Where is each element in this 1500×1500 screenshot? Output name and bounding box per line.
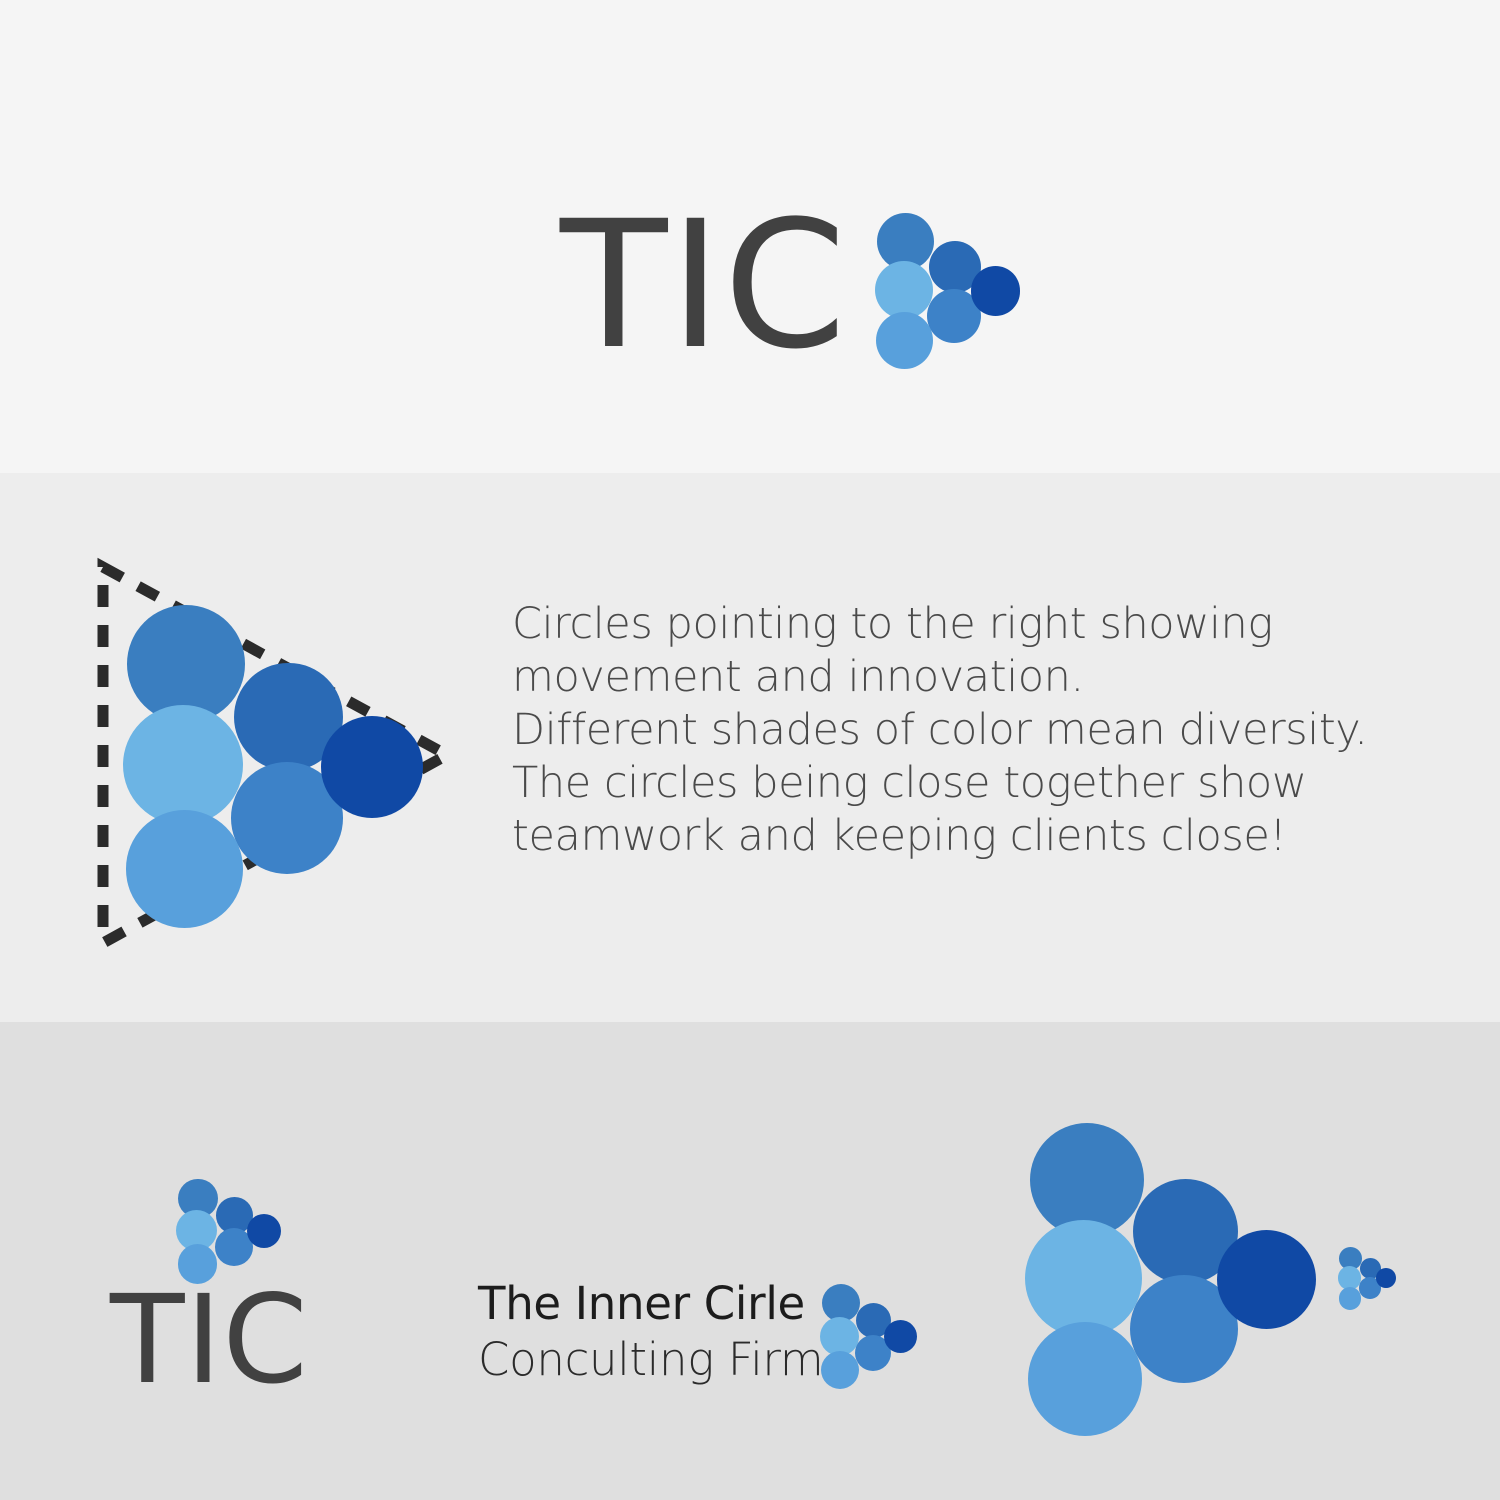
mark-circle-mid-left: [820, 1317, 859, 1356]
size-study: [1010, 1118, 1410, 1438]
mark-circle-point-right: [1217, 1230, 1316, 1329]
tic-circles-icon-large: [1010, 1118, 1310, 1438]
header-wordmark: TIC: [560, 196, 848, 376]
mark-circle-bottom-left: [126, 810, 244, 928]
mark-circle-mid-left: [1025, 1220, 1142, 1337]
stacked-lockup: TIC: [110, 1178, 340, 1418]
mark-circle-bottom-left: [1339, 1287, 1362, 1310]
description-line-3: Different shades of color mean diversity…: [512, 704, 1452, 757]
description-line-2: movement and innovation.: [512, 651, 1452, 704]
mark-circle-mid-left: [875, 261, 934, 320]
tic-circles-icon-small: [1335, 1246, 1395, 1310]
mark-circle-mid-left: [123, 705, 244, 826]
mark-circle-point-right: [1376, 1268, 1396, 1288]
brand-sheet-page: TIC Circles pointing to the right showin…: [0, 0, 1500, 1500]
tic-circles-icon-construction: [107, 600, 417, 930]
mark-description: Circles pointing to the right showing mo…: [512, 598, 1452, 863]
tic-circles-icon-horizontal: [815, 1282, 915, 1390]
construction-diagram: [85, 555, 465, 965]
description-line-4: The circles being close together show: [512, 757, 1452, 810]
description-line-5: teamwork and keeping clients close!: [512, 810, 1452, 863]
description-line-1: Circles pointing to the right showing: [512, 598, 1452, 651]
tic-circles-icon-stacked: [170, 1178, 280, 1283]
mark-circle-point-right: [321, 716, 423, 818]
mark-circle-point-right: [247, 1214, 282, 1249]
header-lockup: TIC: [560, 196, 1020, 376]
company-name-line-2: Conculting Firm: [478, 1332, 823, 1387]
mark-circle-point-right: [884, 1320, 917, 1353]
mark-circle-bottom-left: [1028, 1322, 1142, 1436]
horizontal-lockup: The Inner Cirle Conculting Firm: [478, 1276, 918, 1406]
mark-circle-bottom-left: [876, 312, 933, 369]
tic-circles-icon: [867, 210, 1017, 370]
stacked-wordmark: TIC: [110, 1276, 309, 1404]
mark-circle-point-right: [971, 266, 1021, 316]
company-name-line-1: The Inner Cirle: [478, 1276, 805, 1331]
mark-circle-bottom-left: [821, 1351, 859, 1389]
